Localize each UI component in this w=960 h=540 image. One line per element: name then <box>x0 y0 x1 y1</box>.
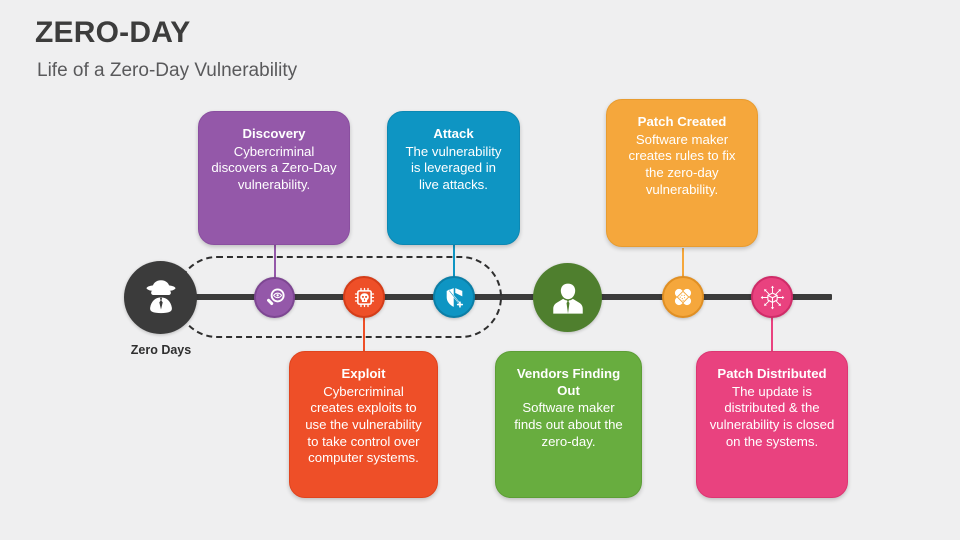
timeline-node-attack[interactable] <box>433 276 475 318</box>
card-patch-created-body: Software maker creates rules to fix the … <box>619 132 745 199</box>
card-attack[interactable]: Attack The vulnerability is leveraged in… <box>387 111 520 245</box>
timeline-node-zero-days[interactable] <box>124 261 197 334</box>
page-subtitle: Life of a Zero-Day Vulnerability <box>37 60 297 82</box>
chip-skull-icon <box>352 285 377 310</box>
card-vendors-finding-out-title: Vendors Finding Out <box>508 366 629 399</box>
card-attack-body: The vulnerability is leveraged in live a… <box>400 144 507 194</box>
card-vendors-finding-out[interactable]: Vendors Finding Out Software maker finds… <box>495 351 642 498</box>
bandage-cross-icon <box>670 284 696 310</box>
timeline-node-vendors[interactable] <box>533 263 602 332</box>
magnifier-eye-icon <box>263 286 287 310</box>
card-attack-title: Attack <box>400 126 507 143</box>
timeline-node-patch-created[interactable] <box>662 276 704 318</box>
timeline-node-exploit[interactable] <box>343 276 385 318</box>
page-title: ZERO-DAY <box>35 16 191 50</box>
card-patch-distributed-title: Patch Distributed <box>709 366 835 383</box>
timeline-node-zero-days-label: Zero Days <box>96 343 226 357</box>
connector-attack <box>453 244 455 280</box>
card-patch-distributed-body: The update is distributed & the vulnerab… <box>709 384 835 451</box>
card-exploit-title: Exploit <box>302 366 425 383</box>
card-exploit[interactable]: Exploit Cybercriminal creates exploits t… <box>289 351 438 498</box>
person-icon <box>548 278 588 318</box>
connector-patch-distributed <box>771 314 773 352</box>
card-patch-distributed[interactable]: Patch Distributed The update is distribu… <box>696 351 848 498</box>
connector-discovery <box>274 244 276 280</box>
card-vendors-finding-out-body: Software maker finds out about the zero-… <box>508 400 629 450</box>
slide-canvas: ZERO-DAY Life of a Zero-Day Vulnerabilit… <box>0 0 960 540</box>
card-exploit-body: Cybercriminal creates exploits to use th… <box>302 384 425 467</box>
card-discovery[interactable]: Discovery Cybercriminal discovers a Zero… <box>198 111 350 245</box>
connector-exploit <box>363 314 365 352</box>
timeline-node-discovery[interactable] <box>254 277 295 318</box>
timeline-node-patch-distributed[interactable] <box>751 276 793 318</box>
card-patch-created-title: Patch Created <box>619 114 745 131</box>
card-discovery-title: Discovery <box>211 126 337 143</box>
package-distribute-icon <box>759 284 786 311</box>
spy-icon <box>140 277 182 319</box>
broken-shield-sword-icon <box>442 285 467 310</box>
card-patch-created[interactable]: Patch Created Software maker creates rul… <box>606 99 758 247</box>
card-discovery-body: Cybercriminal discovers a Zero-Day vulne… <box>211 144 337 194</box>
